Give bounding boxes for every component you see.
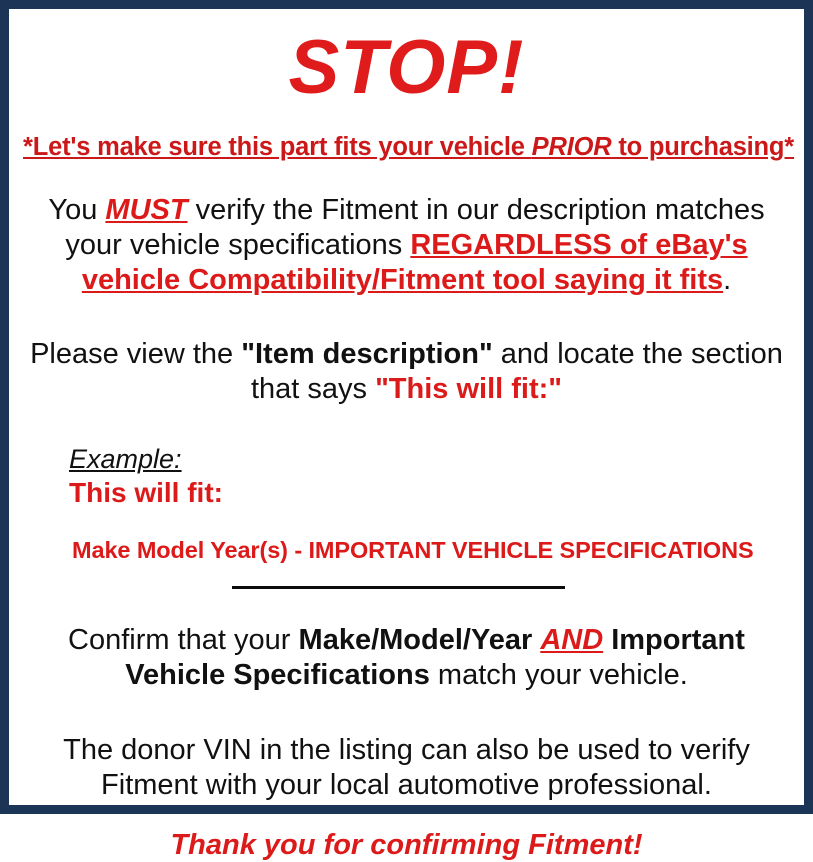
thank-you-line: Thank you for confirming Fitment! — [23, 828, 790, 862]
paragraph-confirm-match: Confirm that your Make/Model/Year AND Im… — [23, 623, 790, 693]
example-label: Example: — [69, 444, 182, 475]
view-text-1: Please view the — [30, 338, 241, 370]
stop-heading: STOP! — [23, 23, 790, 113]
this-will-fit-quote: "This will fit:" — [375, 373, 562, 405]
make-model-year-emphasis: Make/Model/Year — [299, 624, 533, 656]
must-text-1: You — [48, 194, 105, 226]
divider — [23, 586, 790, 600]
example-spec-line: Make Model Year(s) - IMPORTANT VEHICLE S… — [72, 536, 790, 564]
subtitle-prior-emphasis: PRIOR — [532, 133, 612, 161]
example-label-row: Example: — [69, 444, 790, 475]
and-emphasis: AND — [540, 624, 603, 656]
paragraph-must-verify: You MUST verify the Fitment in our descr… — [23, 193, 790, 298]
subtitle-suffix: to purchasing* — [611, 133, 794, 161]
must-text-3: . — [723, 264, 731, 296]
item-description-emphasis: "Item description" — [241, 338, 492, 370]
paragraph-donor-vin: The donor VIN in the listing can also be… — [23, 733, 790, 803]
confirm-text-1: Confirm that your — [68, 624, 298, 656]
confirm-text-2: match your vehicle. — [430, 659, 688, 691]
example-block: Example: This will fit: Make Model Year(… — [23, 444, 790, 564]
confirm-space-2 — [603, 624, 611, 656]
paragraph-view-description: Please view the "Item description" and l… — [23, 337, 790, 407]
divider-rule — [232, 586, 565, 589]
subtitle-warning-line: *Let's make sure this part fits your veh… — [23, 132, 790, 162]
fitment-notice-card: STOP! *Let's make sure this part fits yo… — [0, 0, 813, 814]
must-emphasis: MUST — [105, 194, 187, 226]
subtitle-prefix: *Let's make sure this part fits your veh… — [23, 133, 532, 161]
example-fit-heading: This will fit: — [69, 477, 790, 509]
